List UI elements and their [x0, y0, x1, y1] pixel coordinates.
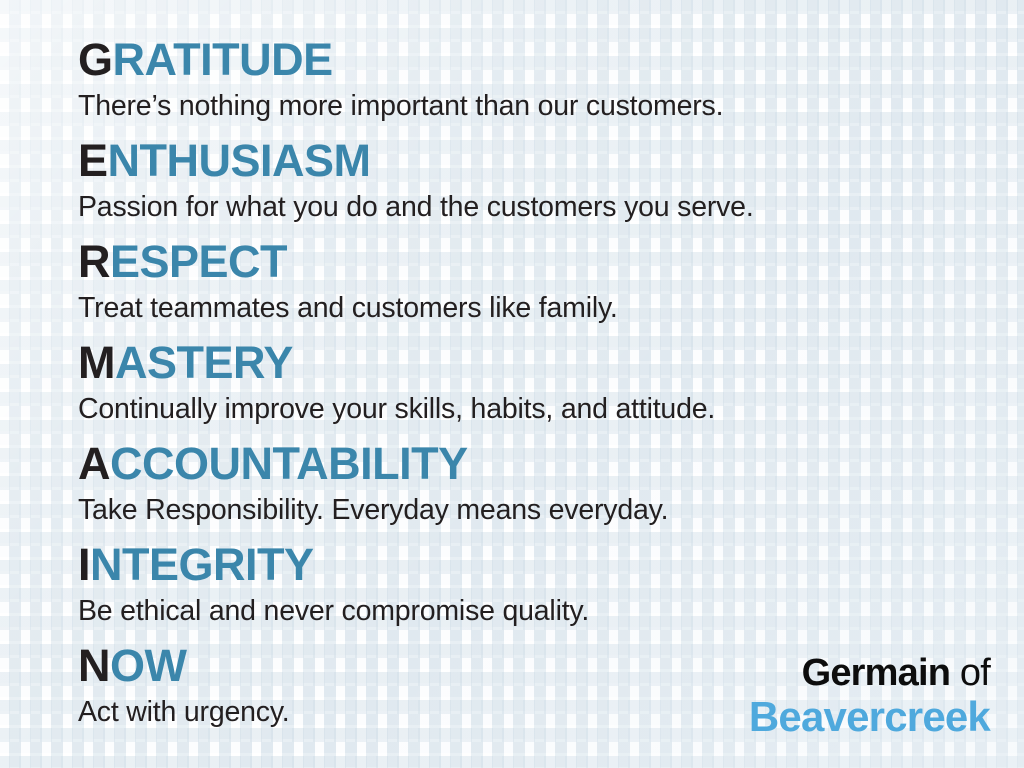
- value-description-accountability: Take Responsibility. Everyday means ever…: [78, 492, 1024, 528]
- value-rest-letters-now: OW: [110, 640, 186, 691]
- value-rest-letters-respect: ESPECT: [110, 236, 287, 287]
- value-description-respect: Treat teammates and customers like famil…: [78, 290, 1024, 326]
- value-lead-letter-now: N: [78, 640, 110, 691]
- dealership-logo: Germain of Beavercreek: [749, 654, 990, 738]
- logo-line-germain-of: Germain of: [749, 654, 990, 692]
- value-heading-mastery: MASTERY: [78, 339, 1024, 388]
- value-heading-integrity: INTEGRITY: [78, 541, 1024, 590]
- value-heading-enthusiasm: ENTHUSIASM: [78, 137, 1024, 186]
- value-lead-letter-respect: R: [78, 236, 110, 287]
- value-heading-accountability: ACCOUNTABILITY: [78, 440, 1024, 489]
- value-rest-letters-gratitude: RATITUDE: [113, 34, 333, 85]
- value-description-gratitude: There’s nothing more important than our …: [78, 88, 1024, 124]
- value-rest-letters-integrity: NTEGRITY: [90, 539, 314, 590]
- value-rest-letters-accountability: CCOUNTABILITY: [110, 438, 468, 489]
- value-block-respect: RESPECT Treat teammates and customers li…: [78, 238, 1024, 326]
- value-block-integrity: INTEGRITY Be ethical and never compromis…: [78, 541, 1024, 629]
- value-lead-letter-accountability: A: [78, 438, 110, 489]
- value-block-enthusiasm: ENTHUSIASM Passion for what you do and t…: [78, 137, 1024, 225]
- value-lead-letter-integrity: I: [78, 539, 90, 590]
- value-block-accountability: ACCOUNTABILITY Take Responsibility. Ever…: [78, 440, 1024, 528]
- value-rest-letters-mastery: ASTERY: [115, 337, 293, 388]
- value-block-gratitude: GRATITUDE There’s nothing more important…: [78, 36, 1024, 124]
- logo-brand-name: Germain: [802, 652, 951, 694]
- values-poster: GRATITUDE There’s nothing more important…: [0, 0, 1024, 768]
- value-heading-gratitude: GRATITUDE: [78, 36, 1024, 85]
- value-rest-letters-enthusiasm: NTHUSIASM: [108, 135, 371, 186]
- logo-connector-of: of: [950, 652, 990, 694]
- value-description-enthusiasm: Passion for what you do and the customer…: [78, 189, 1024, 225]
- value-description-mastery: Continually improve your skills, habits,…: [78, 391, 1024, 427]
- value-heading-respect: RESPECT: [78, 238, 1024, 287]
- value-description-integrity: Be ethical and never compromise quality.: [78, 593, 1024, 629]
- value-block-mastery: MASTERY Continually improve your skills,…: [78, 339, 1024, 427]
- value-lead-letter-mastery: M: [78, 337, 115, 388]
- value-lead-letter-gratitude: G: [78, 34, 113, 85]
- logo-location-name: Beavercreek: [749, 696, 990, 738]
- value-lead-letter-enthusiasm: E: [78, 135, 108, 186]
